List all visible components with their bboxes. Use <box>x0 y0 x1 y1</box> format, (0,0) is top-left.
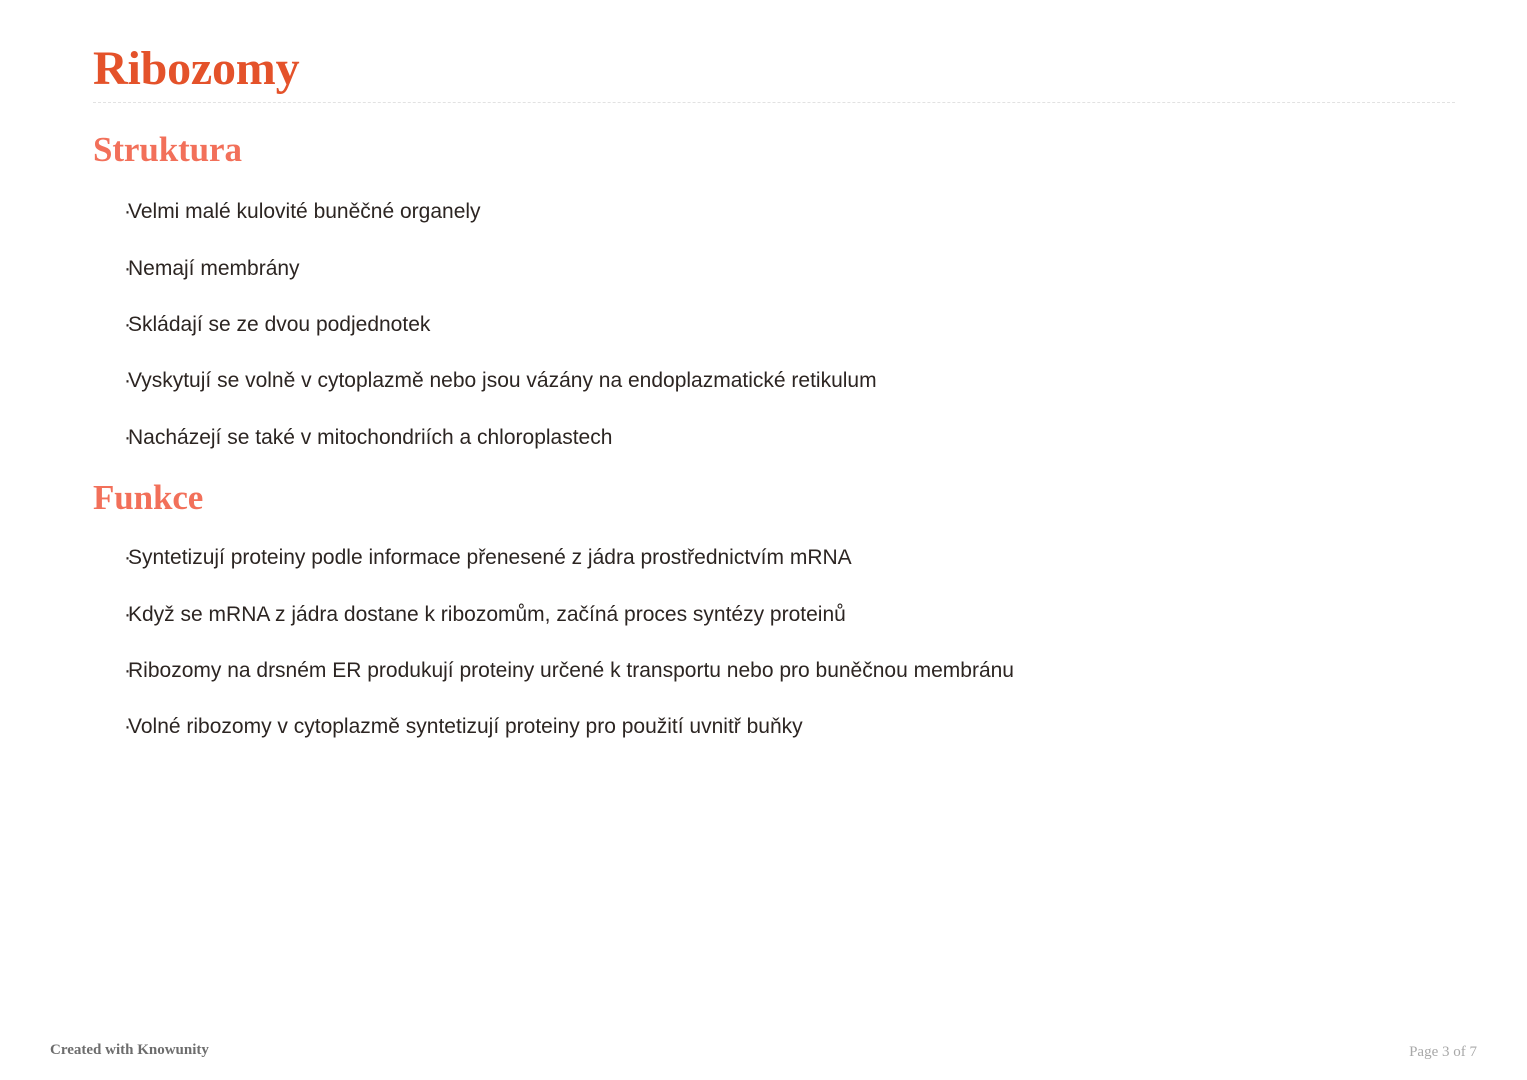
bullet-dot-icon: · <box>124 424 131 452</box>
page-title: Ribozomy <box>93 44 1455 94</box>
list-item-label: Syntetizují proteiny podle informace pře… <box>128 546 852 569</box>
bullet-dot-icon: · <box>124 367 131 395</box>
list-item: · Volné ribozomy v cytoplazmě syntetizuj… <box>93 713 1453 741</box>
list-item: · Skládají se ze dvou podjednotek <box>93 311 1453 339</box>
slide-page: Ribozomy Struktura · Velmi malé kulovité… <box>0 0 1527 1080</box>
bullet-dot-icon: · <box>124 601 131 629</box>
bullet-dot-icon: · <box>124 657 131 685</box>
list-item-label: Volné ribozomy v cytoplazmě syntetizují … <box>128 715 803 738</box>
bullet-list-funkce: · Syntetizují proteiny podle informace p… <box>93 544 1453 741</box>
bullet-dot-icon: · <box>124 713 131 741</box>
list-item: · Když se mRNA z jádra dostane k ribozom… <box>93 601 1453 629</box>
list-item-label: Velmi malé kulovité buněčné organely <box>128 200 481 223</box>
bullet-list-struktura: · Velmi malé kulovité buněčné organely ·… <box>93 198 1453 452</box>
list-item-label: Vyskytují se volně v cytoplazmě nebo jso… <box>128 369 877 392</box>
list-item: · Nemají membrány <box>93 255 1453 283</box>
list-item-label: Skládají se ze dvou podjednotek <box>128 313 430 336</box>
list-item: · Ribozomy na drsném ER produkují protei… <box>93 657 1453 685</box>
list-item: · Velmi malé kulovité buněčné organely <box>93 198 1453 226</box>
section-heading-funkce: Funkce <box>93 478 1453 517</box>
section-heading-struktura: Struktura <box>93 130 1453 169</box>
footer-credit: Created with Knowunity <box>50 1043 209 1058</box>
title-divider <box>93 102 1455 103</box>
footer-page-number: Page 3 of 7 <box>1409 1045 1477 1060</box>
bullet-dot-icon: · <box>124 255 131 283</box>
section-funkce: Funkce · Syntetizují proteiny podle info… <box>93 478 1453 742</box>
list-item: · Syntetizují proteiny podle informace p… <box>93 544 1453 572</box>
list-item: · Nacházejí se také v mitochondriích a c… <box>93 424 1453 452</box>
bullet-dot-icon: · <box>124 544 131 572</box>
bullet-dot-icon: · <box>124 198 131 226</box>
title-block: Ribozomy <box>93 44 1455 103</box>
list-item-label: Nacházejí se také v mitochondriích a chl… <box>128 426 612 449</box>
list-item-label: Nemají membrány <box>128 257 300 280</box>
list-item-label: Když se mRNA z jádra dostane k ribozomům… <box>128 603 846 626</box>
list-item: · Vyskytují se volně v cytoplazmě nebo j… <box>93 367 1453 395</box>
bullet-dot-icon: · <box>124 311 131 339</box>
list-item-label: Ribozomy na drsném ER produkují proteiny… <box>128 659 1014 682</box>
section-struktura: Struktura · Velmi malé kulovité buněčné … <box>93 130 1453 452</box>
